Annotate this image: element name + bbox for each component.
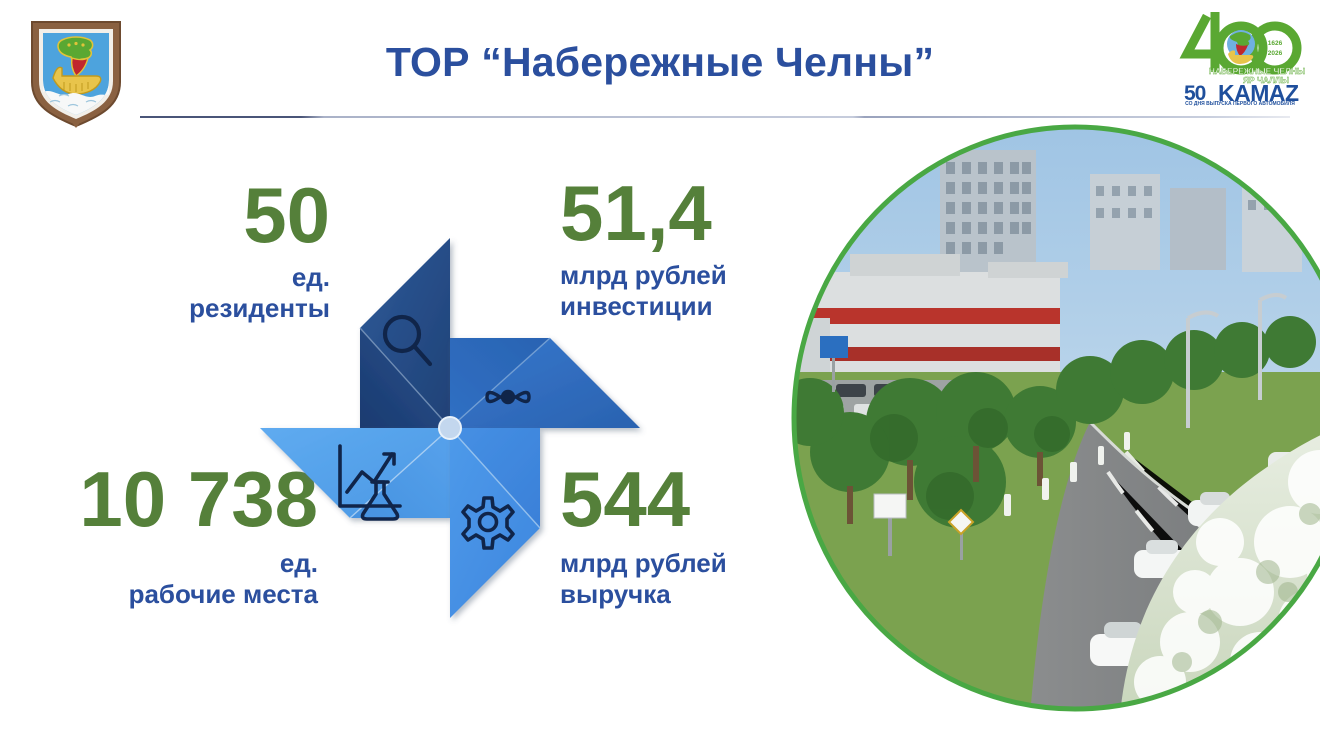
logo-year-to: 2026 [1268,50,1283,57]
pinwheel-graphic [250,228,650,628]
city-coat-of-arms-icon [26,16,126,128]
pinwheel-blade-top-left [360,238,450,428]
logo-year-from: 1626 [1268,40,1283,47]
city-photo-card [790,122,1320,716]
bottom-white-strip [0,714,1320,736]
svg-text:СО ДНЯ ВЫПУСКА ПЕРВОГО АВТОМОБ: СО ДНЯ ВЫПУСКА ПЕРВОГО АВТОМОБИЛЯ [1185,101,1295,106]
pinwheel-blade-top-right [450,338,640,428]
city-photo [790,122,1320,716]
anniversary-kamaz-logo: 1626 2026 НАБЕРЕЖНЫЕ ЧЕЛНЫ ЯР ЧАЛЛЫ 50 K… [1174,4,1306,106]
header-divider [140,116,1290,118]
page-header: ТОР “Набережные Челны” 1626 2026 НАБЕРЕЖ… [0,0,1320,130]
page-title: ТОР “Набережные Челны” [180,39,1140,86]
